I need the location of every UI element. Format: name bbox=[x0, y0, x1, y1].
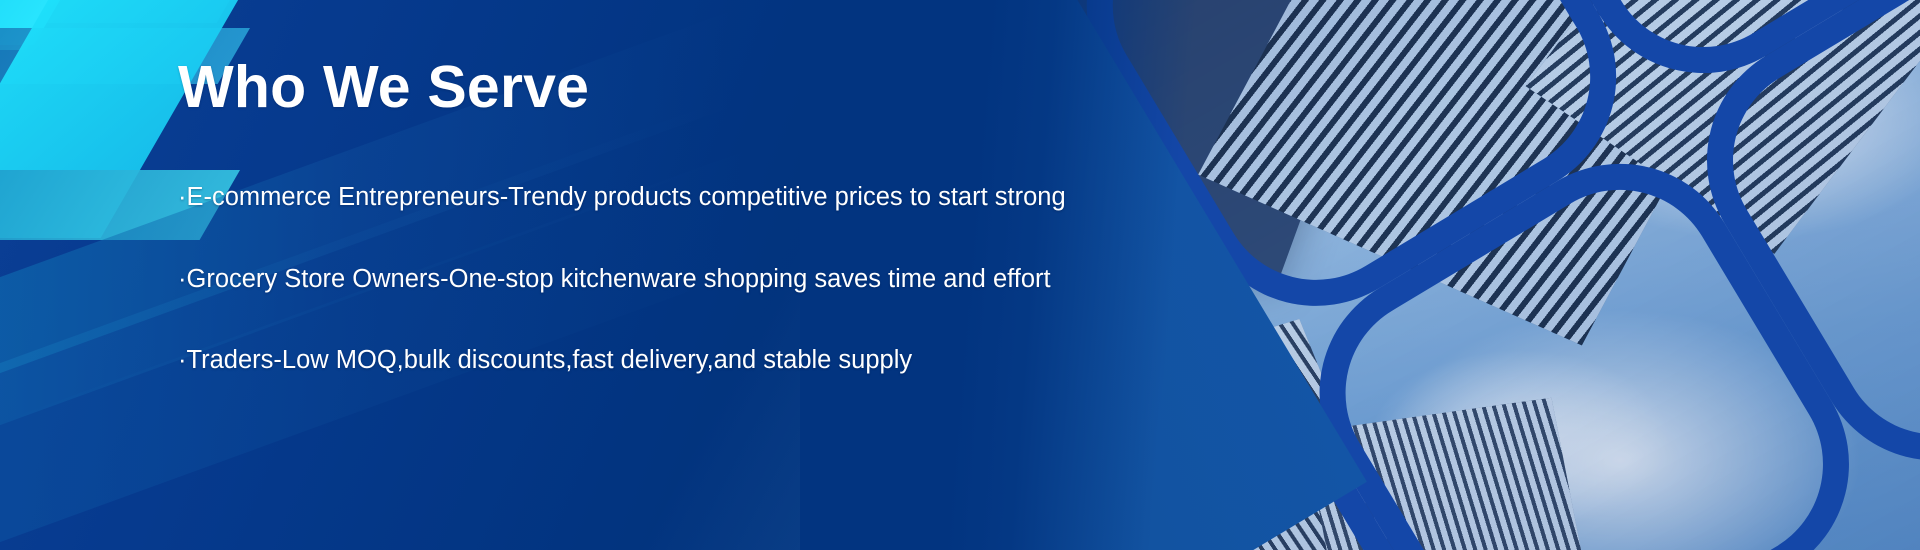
banner-content: Who We Serve ·E-commerce Entrepreneurs-T… bbox=[178, 56, 1158, 377]
page-title: Who We Serve bbox=[178, 56, 1158, 120]
list-item: ·E-commerce Entrepreneurs-Trendy product… bbox=[178, 182, 1158, 214]
serve-list: ·E-commerce Entrepreneurs-Trendy product… bbox=[178, 182, 1158, 378]
list-item: ·Traders-Low MOQ,bulk discounts,fast del… bbox=[178, 345, 1158, 377]
who-we-serve-banner: Who We Serve ·E-commerce Entrepreneurs-T… bbox=[0, 0, 1920, 550]
list-item: ·Grocery Store Owners-One-stop kitchenwa… bbox=[178, 264, 1158, 296]
